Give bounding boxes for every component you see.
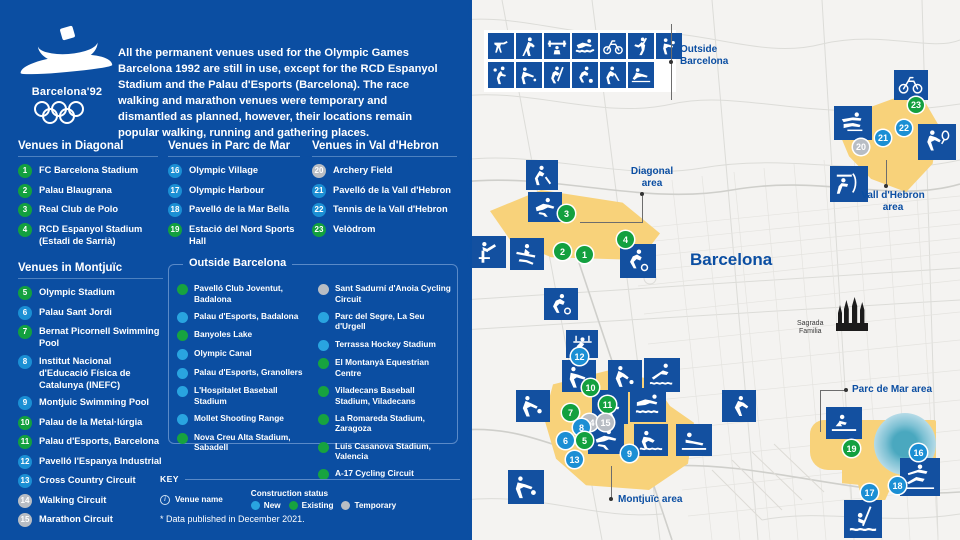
map-marker-19[interactable]: 19 [843, 440, 860, 457]
pictogram-tennis-icon [918, 124, 956, 160]
outside-venue-name: Terrassa Hockey Stadium [335, 339, 436, 350]
outside-venue-name: Banyoles Lake [194, 329, 252, 340]
venue-name: Tennis de la Vall d'Hebron [333, 203, 448, 215]
pictogram-sailing-icon [826, 407, 862, 439]
venue-pin: 17 [168, 184, 182, 198]
outside-venue-name: Parc del Segre, La Seu d'Urgell [335, 311, 451, 332]
venue-pin: 6 [18, 306, 32, 320]
status-dot [177, 433, 188, 444]
key-status-existing: Existing [289, 501, 334, 510]
venue-name: Archery Field [333, 164, 392, 176]
pictogram-cycling-icon [600, 33, 626, 59]
map-label-parc-de-mar-text: Parc de Mar area [852, 384, 932, 395]
status-dot-new [251, 501, 260, 510]
status-dot [177, 330, 188, 341]
outside-venue-name: Pavelló Club Joventut, Badalona [194, 283, 310, 304]
map-marker-9[interactable]: 9 [621, 445, 638, 462]
map-label-diagonal-text: Diagonal area [631, 166, 673, 189]
pictogram-athletics-icon [528, 192, 562, 222]
key-status-temporary-label: Temporary [354, 501, 396, 510]
leader-line-montjuic [611, 466, 612, 498]
status-dot [318, 284, 329, 295]
map-label-outside-barcelona: Outside Barcelona [680, 44, 760, 68]
map-label-outside-barcelona-text: Outside Barcelona [680, 44, 728, 67]
map-marker-4[interactable]: 4 [617, 231, 634, 248]
pictogram-volleyball-icon [516, 390, 550, 422]
venue-name: Marathon Circuit [39, 513, 113, 525]
venue-name: Palau de la Metal·lúrgia [39, 416, 142, 428]
status-dot [318, 386, 329, 397]
venues-diagonal-section: Venues in Diagonal 1 FC Barcelona Stadiu… [18, 140, 158, 252]
venue-name: Montjuic Swimming Pool [39, 396, 149, 408]
venue-item[interactable]: 8 Institut Nacional d'Educació Física de… [18, 355, 163, 391]
outside-venue-name: Palau d'Esports, Badalona [194, 311, 298, 322]
status-dot [318, 340, 329, 351]
pictogram-wrestling-montjuic-icon [508, 470, 544, 504]
outside-venue-item[interactable]: Pavelló Club Joventut, Badalona [177, 283, 310, 304]
map-marker-18[interactable]: 18 [889, 477, 906, 494]
status-dot [177, 368, 188, 379]
venues-montjuic-heading: Venues in Montjuïc [18, 262, 163, 279]
venue-pin: 22 [312, 203, 326, 217]
venue-name: Walking Circuit [39, 494, 106, 506]
venue-pin: 1 [18, 164, 32, 178]
venue-pin: 14 [18, 494, 32, 508]
pictogram-rowing-icon [628, 62, 654, 88]
outside-venue-item[interactable]: Mollet Shooting Range [177, 413, 310, 425]
map-marker-6[interactable]: 6 [557, 432, 574, 449]
venue-name: Pavelló de la Vall d'Hebron [333, 184, 451, 196]
map-marker-22[interactable]: 22 [896, 120, 912, 136]
key-status-new: New [251, 501, 281, 510]
outside-venue-item[interactable]: Palau d'Esports, Badalona [177, 311, 310, 323]
pictogram-waterpolo-icon [634, 424, 668, 456]
venue-item[interactable]: 4 RCD Espanyol Stadium (Estadi de Sarrià… [18, 223, 158, 247]
outside-venue-item[interactable]: La Romareda Stadium, Zaragoza [318, 413, 451, 434]
outside-venue-name: L'Hospitalet Baseball Stadium [194, 385, 310, 406]
status-dot [177, 349, 188, 360]
status-dot [318, 312, 329, 323]
leader-dot-diagonal [640, 192, 644, 196]
pictogram-windsurf-icon [900, 458, 940, 496]
outside-barcelona-left-column: Pavelló Club Joventut, Badalona Palau d'… [177, 283, 310, 487]
map-marker-1[interactable]: 1 [576, 246, 593, 263]
pictogram-handball-icon [488, 62, 514, 88]
olympic-rings-icon [18, 100, 116, 124]
leader-line-vall-hebron [886, 160, 887, 186]
leader-line-parc-de-mar-h [820, 390, 846, 391]
venues-parc-de-mar-heading: Venues in Parc de Mar [168, 140, 300, 157]
map-marker-20[interactable]: 20 [853, 139, 869, 155]
outside-venue-item[interactable]: Luis Casanova Stadium, Valencia [318, 441, 451, 462]
outside-venue-name: Luis Casanova Stadium, Valencia [335, 441, 451, 462]
pictogram-equestrian-icon [472, 236, 506, 268]
key-status-new-label: New [264, 501, 281, 510]
outside-barcelona-columns: Pavelló Club Joventut, Badalona Palau d'… [177, 283, 451, 487]
outside-barcelona-heading: Outside Barcelona [183, 257, 292, 269]
map-label-montjuic-text: Montjuïc area [618, 494, 682, 505]
key-title: KEY [160, 474, 179, 484]
pictogram-swimming-montjuic-icon [630, 388, 666, 422]
sagrada-familia-icon [832, 297, 872, 331]
venues-montjuic-list: 5 Olympic Stadium 6 Palau Sant Jordi 7 B… [18, 286, 163, 527]
venue-name: Cross Country Circuit [39, 474, 136, 486]
venue-item[interactable]: 9 Montjuic Swimming Pool [18, 396, 163, 410]
pictogram-football-icon [572, 62, 598, 88]
venue-item[interactable]: 19 Estació del Nord Sports Hall [168, 223, 300, 247]
pictogram-vault-icon [834, 106, 872, 140]
status-dot [177, 414, 188, 425]
leader-line-parc-de-mar-v [820, 390, 821, 432]
status-dot [318, 442, 329, 453]
map-label-montjuic: Montjuïc area [618, 494, 688, 506]
map-label-vall-hebron: Vall d'Hebron area [858, 190, 928, 214]
pictogram-baseball-icon [628, 33, 654, 59]
outside-venue-item[interactable]: Sant Sadurní d'Anoia Cycling Circuit [318, 283, 451, 304]
outside-venue-item[interactable]: Nova Creu Alta Stadium, Sabadell [177, 432, 310, 453]
status-dot [177, 284, 188, 295]
venue-pin: 19 [168, 223, 182, 237]
outside-venue-name: Nova Creu Alta Stadium, Sabadell [194, 432, 310, 453]
venue-name: Palau Blaugrana [39, 184, 112, 196]
map-marker-5[interactable]: 5 [576, 432, 593, 449]
outside-venue-item[interactable]: Palau d'Esports, Granollers [177, 367, 310, 379]
venue-pin: 23 [312, 223, 326, 237]
outside-venue-name: Olympic Canal [194, 348, 252, 359]
venue-item[interactable]: 3 Real Club de Polo [18, 203, 158, 217]
venue-name: Pavelló l'Espanya Industrial [39, 455, 162, 467]
map-marker-15[interactable]: 15 [597, 414, 614, 431]
leader-dot-montjuic [609, 497, 613, 501]
venue-name: Olympic Harbour [189, 184, 264, 196]
venues-montjuic-section: Venues in Montjuïc 5 Olympic Stadium 6 P… [18, 262, 163, 533]
venue-item[interactable]: 6 Palau Sant Jordi [18, 306, 163, 320]
venues-val-hebron-heading: Venues in Val d'Hebron [312, 140, 457, 157]
status-dot-temporary [341, 501, 350, 510]
venue-item[interactable]: 5 Olympic Stadium [18, 286, 163, 300]
outside-venue-item[interactable]: Parc del Segre, La Seu d'Urgell [318, 311, 451, 332]
leader-dot-outside-barcelona [669, 60, 673, 64]
key-venue-name-item: i Venue name [160, 489, 223, 510]
venues-parc-de-mar-list: 16 Olympic Village 17 Olympic Harbour 18… [168, 164, 300, 247]
status-dot [177, 312, 188, 323]
map-marker-16[interactable]: 16 [910, 444, 927, 461]
map-marker-23[interactable]: 23 [908, 97, 924, 113]
venue-name: Institut Nacional d'Educació Física de C… [39, 355, 163, 391]
venues-diagonal-heading: Venues in Diagonal [18, 140, 158, 157]
outside-venue-name: La Romareda Stadium, Zaragoza [335, 413, 451, 434]
footnote: * Data published in December 2021. [160, 514, 305, 524]
pictogram-boxing-icon [516, 33, 542, 59]
sagrada-familia-label: Sagrada Familia [797, 320, 823, 337]
pictogram-canoe-parc-icon [844, 500, 882, 538]
venues-val-hebron-list: 20 Archery Field 21 Pavelló de la Vall d… [312, 164, 457, 237]
venue-name: Palau Sant Jordi [39, 306, 112, 318]
venue-item[interactable]: 10 Palau de la Metal·lúrgia [18, 416, 163, 430]
left-info-panel: Barcelona'92 All the permanent venues us… [0, 0, 472, 540]
logo-wordmark: Barcelona'92 [18, 86, 116, 98]
pictogram-wrestling-icon [656, 33, 682, 59]
venue-name: Olympic Stadium [39, 286, 115, 298]
barcelona-map[interactable]: Outside Barcelona 23 22 21 20 Vall d'Heb… [462, 0, 960, 540]
venue-name: FC Barcelona Stadium [39, 164, 138, 176]
venue-item[interactable]: 1 FC Barcelona Stadium [18, 164, 158, 178]
outside-venue-item[interactable]: Terrassa Hockey Stadium [318, 339, 451, 351]
map-marker-10[interactable]: 10 [582, 379, 599, 396]
pictogram-shooting-icon [488, 33, 514, 59]
venue-pin: 9 [18, 396, 32, 410]
pictogram-cycling-track-icon [894, 70, 928, 100]
key-divider [185, 479, 460, 480]
map-marker-13[interactable]: 13 [566, 451, 583, 468]
venue-pin: 3 [18, 203, 32, 217]
leader-dot-parc-de-mar [844, 388, 848, 392]
venue-pin: 15 [18, 513, 32, 527]
venue-name: Velòdrom [333, 223, 375, 235]
outside-venue-item[interactable]: El Montanyà Equestrian Centre [318, 357, 451, 378]
venue-name: Palau d'Esports, Barcelona [39, 435, 159, 447]
intro-paragraph: All the permanent venues used for the Ol… [118, 46, 448, 141]
pictogram-football-diagonal2-icon [620, 244, 656, 278]
key-construction-status: Construction status New Existing Temp [251, 489, 396, 510]
venues-val-hebron-section: Venues in Val d'Hebron 20 Archery Field … [312, 140, 457, 242]
infographic-root: Outside Barcelona 23 22 21 20 Vall d'Heb… [0, 0, 960, 540]
leader-line-diagonal-h [580, 222, 642, 223]
map-key: KEY i Venue name Construction status New [160, 474, 460, 510]
venues-parc-de-mar-section: Venues in Parc de Mar 16 Olympic Village… [168, 140, 300, 252]
key-construction-status-items: New Existing Temporary [251, 501, 396, 510]
venue-pin: 4 [18, 223, 32, 237]
pictogram-canoeing-icon [544, 62, 570, 88]
venue-pin: 8 [18, 355, 32, 369]
venue-name: RCD Espanyol Stadium (Estadi de Sarrià) [39, 223, 158, 247]
barcelona-92-logo: Barcelona'92 [18, 22, 116, 114]
venue-item[interactable]: 7 Bernat Picornell Swimming Pool [18, 325, 163, 349]
pictogram-weightlifting-icon [544, 33, 570, 59]
map-label-parc-de-mar: Parc de Mar area [852, 384, 952, 396]
venue-item[interactable]: 13 Cross Country Circuit [18, 474, 163, 488]
venue-pin: 12 [18, 455, 32, 469]
outside-venue-item[interactable]: L'Hospitalet Baseball Stadium [177, 385, 310, 406]
venue-marker-icon: i [160, 495, 170, 505]
logo-figure [18, 22, 116, 84]
map-label-barcelona: Barcelona [690, 250, 772, 270]
logo-body-shape [19, 52, 112, 76]
venue-item[interactable]: 20 Archery Field [312, 164, 457, 178]
map-marker-12[interactable]: 12 [571, 348, 588, 365]
outside-venue-item[interactable]: Viladecans Baseball Stadium, Viladecans [318, 385, 451, 406]
pictogram-judo-icon [516, 62, 542, 88]
pictogram-running-icon [722, 390, 756, 422]
pictogram-gymnastics-icon [510, 238, 544, 270]
venue-item[interactable]: 2 Palau Blaugrana [18, 184, 158, 198]
venue-name: Olympic Village [189, 164, 258, 176]
map-label-barcelona-text: Barcelona [690, 250, 772, 269]
pictogram-football-diagonal-icon [544, 288, 578, 320]
map-label-diagonal: Diagonal area [624, 166, 680, 190]
pictogram-diving-icon [644, 358, 680, 392]
venue-pin: 18 [168, 203, 182, 217]
status-dot [318, 358, 329, 369]
venue-item[interactable]: 23 Velòdrom [312, 223, 457, 237]
venue-name: Estació del Nord Sports Hall [189, 223, 300, 247]
venue-pin: 7 [18, 325, 32, 339]
pictogram-field-hockey-icon [526, 160, 558, 190]
venue-pin: 20 [312, 164, 326, 178]
outside-venue-name: Palau d'Esports, Granollers [194, 367, 302, 378]
map-label-vall-hebron-text: Vall d'Hebron area [861, 190, 925, 213]
key-venue-name-label: Venue name [175, 495, 223, 504]
outside-barcelona-right-column: Sant Sadurní d'Anoia Cycling Circuit Par… [318, 283, 451, 487]
outside-venue-item[interactable]: Banyoles Lake [177, 329, 310, 341]
outside-venue-name: Sant Sadurní d'Anoia Cycling Circuit [335, 283, 451, 304]
venue-pin: 13 [18, 474, 32, 488]
pictogram-rowing-montjuic-icon [676, 424, 712, 456]
outside-venue-name: Mollet Shooting Range [194, 413, 284, 424]
map-marker-7[interactable]: 7 [562, 404, 579, 421]
map-marker-17[interactable]: 17 [861, 484, 878, 501]
key-status-temporary: Temporary [341, 501, 396, 510]
venue-name: Pavelló de la Mar Bella [189, 203, 289, 215]
panel-torn-edge [464, 0, 476, 540]
pictogram-swimming-icon [572, 33, 598, 59]
venue-pin: 21 [312, 184, 326, 198]
status-dot [177, 386, 188, 397]
pictogram-hockey-icon [600, 62, 626, 88]
map-marker-11[interactable]: 11 [599, 396, 616, 413]
venue-pin: 16 [168, 164, 182, 178]
venue-item[interactable]: 18 Pavelló de la Mar Bella [168, 203, 300, 217]
venue-item[interactable]: 11 Palau d'Esports, Barcelona [18, 435, 163, 449]
pictogram-grid-outside-barcelona [484, 30, 676, 92]
venues-diagonal-list: 1 FC Barcelona Stadium 2 Palau Blaugrana… [18, 164, 158, 247]
venue-pin: 10 [18, 416, 32, 430]
status-dot-existing [289, 501, 298, 510]
venue-pin: 2 [18, 184, 32, 198]
map-marker-21[interactable]: 21 [875, 130, 891, 146]
key-body: i Venue name Construction status New Exi… [160, 489, 460, 510]
key-header: KEY [160, 474, 460, 484]
map-marker-3[interactable]: 3 [558, 205, 575, 222]
outside-venue-name: El Montanyà Equestrian Centre [335, 357, 451, 378]
venue-item[interactable]: 14 Walking Circuit [18, 494, 163, 508]
map-marker-2[interactable]: 2 [554, 243, 571, 260]
status-dot [318, 414, 329, 425]
leader-line-diagonal-v [642, 196, 643, 223]
venue-item[interactable]: 15 Marathon Circuit [18, 513, 163, 527]
key-status-existing-label: Existing [302, 501, 334, 510]
outside-venue-name: Viladecans Baseball Stadium, Viladecans [335, 385, 451, 406]
venue-item[interactable]: 16 Olympic Village [168, 164, 300, 178]
venue-item[interactable]: 22 Tennis de la Vall d'Hebron [312, 203, 457, 217]
outside-venue-item[interactable]: Olympic Canal [177, 348, 310, 360]
leader-dot-vall-hebron [884, 184, 888, 188]
venue-pin: 5 [18, 286, 32, 300]
venue-item[interactable]: 21 Pavelló de la Vall d'Hebron [312, 184, 457, 198]
venue-name: Real Club de Polo [39, 203, 118, 215]
venue-name: Bernat Picornell Swimming Pool [39, 325, 163, 349]
outside-barcelona-box: Outside Barcelona Pavelló Club Joventut,… [168, 264, 458, 444]
venue-item[interactable]: 17 Olympic Harbour [168, 184, 300, 198]
venue-item[interactable]: 12 Pavelló l'Espanya Industrial [18, 455, 163, 469]
venue-pin: 11 [18, 435, 32, 449]
key-construction-status-title: Construction status [251, 489, 396, 498]
